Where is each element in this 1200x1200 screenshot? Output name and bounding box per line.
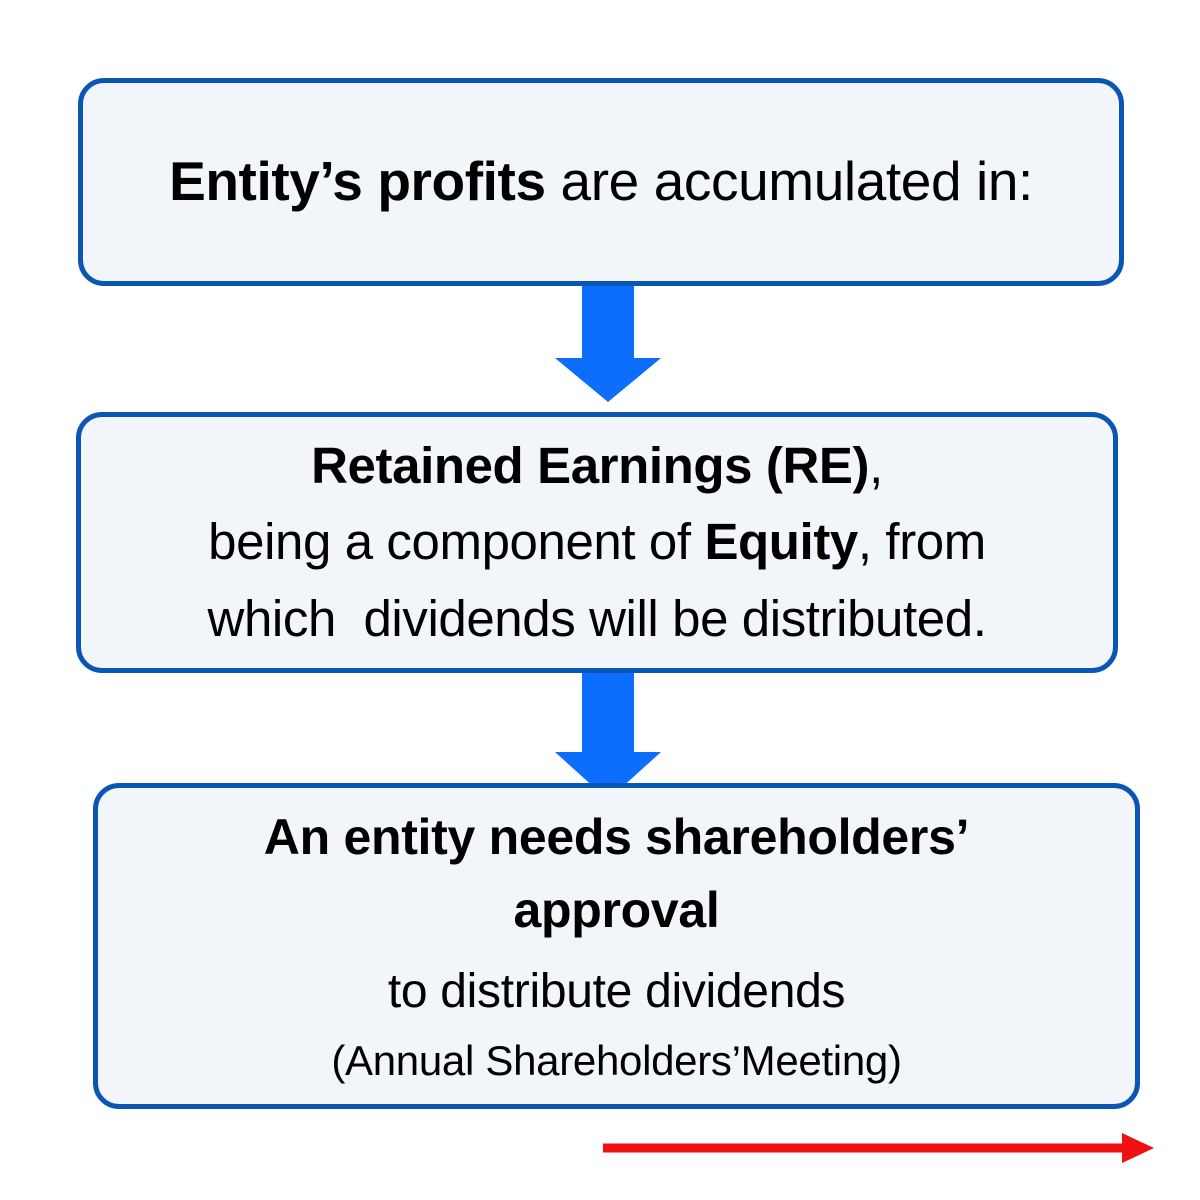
entity-profits-text: Entity’s profits are accumulated in:	[83, 150, 1119, 214]
approval-line-3: to distribute dividends	[98, 956, 1135, 1028]
entity-profits-bold: Entity’s profits	[169, 150, 546, 212]
retained-earnings-line-2-post: , from	[858, 513, 986, 570]
retained-earnings-line-2-pre: being a component of	[208, 513, 704, 570]
retained-earnings-line-3: which dividends will be distributed.	[81, 581, 1113, 658]
diagram-canvas: Entity’s profits are accumulated in: Ret…	[0, 0, 1200, 1200]
entity-profits-normal: are accumulated in:	[546, 150, 1033, 212]
retained-earnings-line-1: Retained Earnings (RE),	[81, 428, 1113, 505]
retained-earnings-box: Retained Earnings (RE), being a componen…	[76, 412, 1118, 673]
equity-bold: Equity	[704, 513, 857, 570]
retained-earnings-bold: Retained Earnings (RE)	[311, 437, 869, 494]
retained-earnings-comma: ,	[869, 437, 883, 494]
approval-line-2: approval	[98, 874, 1135, 947]
right-arrow-icon	[598, 1126, 1158, 1170]
shareholder-approval-box: An entity needs shareholders’ approval t…	[93, 783, 1140, 1109]
approval-line-1: An entity needs shareholders’	[98, 801, 1135, 874]
down-arrow-icon	[548, 286, 668, 402]
approval-line-4: (Annual Shareholders’Meeting)	[98, 1032, 1135, 1091]
down-arrow-icon	[548, 668, 668, 800]
retained-earnings-line-2: being a component of Equity, from	[81, 504, 1113, 581]
entity-profits-box: Entity’s profits are accumulated in:	[78, 78, 1124, 286]
